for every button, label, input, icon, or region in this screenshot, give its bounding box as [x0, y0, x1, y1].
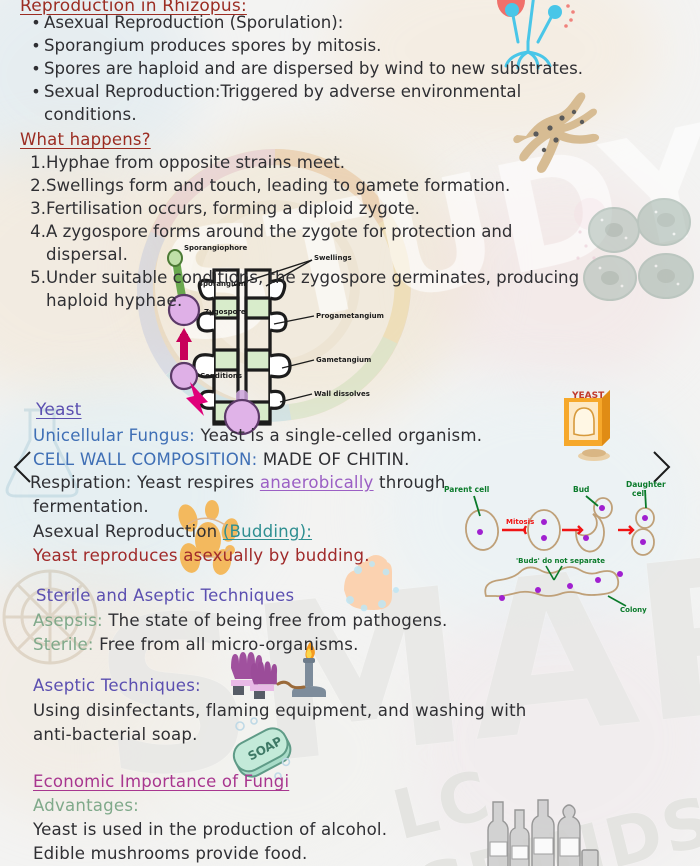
list-number: 5. — [24, 265, 46, 290]
text-advantage-2: Edible mushrooms provide food. — [33, 841, 308, 866]
list-item: 5. Under suitable conditions, the zygosp… — [24, 265, 579, 290]
hyphae-branch-icon — [512, 88, 622, 198]
svg-text:Conditions: Conditions — [200, 372, 242, 380]
heading-economic-importance: Economic Importance of Fungi — [33, 769, 289, 794]
list-number: 2. — [24, 173, 46, 198]
list-text: Fertilisation occurs, forming a diploid … — [46, 196, 420, 221]
bullet-text-cont: conditions. — [44, 102, 137, 127]
chevron-right-icon[interactable] — [650, 450, 672, 484]
aseptic-line-sterile: Sterile: Free from all micro-organisms. — [33, 632, 359, 657]
svg-text:Parent cell: Parent cell — [444, 485, 489, 494]
svg-text:Zygospore: Zygospore — [204, 308, 246, 316]
list-text-cont: dispersal. — [46, 242, 128, 267]
text-anaerobically: anaerobically — [260, 473, 374, 492]
text-aseptic-body-1: Using disinfectants, flaming equipment, … — [33, 698, 527, 723]
svg-text:Gametangium: Gametangium — [316, 356, 371, 364]
text-respiration: Yeast respires — [132, 473, 260, 492]
soap-label: SOAP — [246, 734, 285, 764]
list-number: 4. — [24, 219, 46, 244]
aseptic-line-asepsis: Asepsis: The state of being free from pa… — [33, 608, 447, 633]
heading-sterile-aseptic: Sterile and Aseptic Techniques — [36, 583, 294, 608]
text-sterile: Free from all micro-organisms. — [94, 635, 359, 654]
label-respiration: Respiration: — [30, 473, 132, 492]
heading-what-happens: What happens? — [20, 127, 151, 152]
label-asepsis: Asepsis: — [33, 611, 103, 630]
bullet-dot: • — [28, 33, 44, 58]
text-yeast-budding-summary: Yeast reproduces asexually by budding. — [33, 543, 370, 568]
alcohol-bottles-icon — [472, 786, 602, 866]
text-cell-wall-composition: MADE OF CHITIN. — [257, 450, 409, 469]
list-text: Swellings form and touch, leading to gam… — [46, 173, 510, 198]
bullet-dot: • — [28, 79, 44, 104]
yeast-budding-diagram: Parent cell Bud Daughter cell Mitosis — [440, 482, 670, 562]
svg-text:Sporangiophore: Sporangiophore — [184, 244, 247, 252]
svg-text:Colony: Colony — [620, 606, 647, 614]
text-unicellular-fungus: Yeast is a single-celled organism. — [195, 426, 482, 445]
text-fermentation: fermentation. — [33, 494, 149, 519]
list-text: Under suitable conditions, the zygospore… — [46, 265, 579, 290]
label-sterile: Sterile: — [33, 635, 94, 654]
list-item: • Sexual Reproduction:Triggered by adver… — [28, 79, 521, 104]
label-unicellular-fungus: Unicellular Fungus: — [33, 426, 195, 445]
yeast-box-label: YEAST — [571, 391, 605, 401]
yeast-line-respiration: Respiration: Yeast respires anaerobicall… — [30, 470, 446, 495]
heading-aseptic-techniques: Aseptic Techniques: — [33, 673, 201, 698]
text-respiration-tail: through — [374, 473, 446, 492]
svg-text:cell: cell — [632, 489, 647, 498]
list-text: Hyphae from opposite strains meet. — [46, 150, 345, 175]
watermark-lc-grinds: LC GRINDS — [385, 705, 700, 866]
yeast-colony-diagram: 'Buds' do not separate Colony — [480, 556, 655, 620]
heading-yeast: Yeast — [36, 398, 82, 423]
list-text-cont: haploid hyphae. — [46, 288, 182, 313]
list-number: 3. — [24, 196, 46, 221]
svg-text:Mitosis: Mitosis — [506, 518, 534, 526]
svg-text:Bud: Bud — [573, 485, 589, 494]
bullet-dot: • — [28, 10, 44, 35]
label-cell-wall-composition: CELL WALL COMPOSITION: — [33, 450, 257, 469]
cell-cluster-icon — [570, 188, 700, 298]
list-item: 4. A zygospore forms around the zygote f… — [24, 219, 512, 244]
svg-text:Swellings: Swellings — [314, 254, 352, 262]
text-budding: (Budding): — [223, 522, 312, 541]
list-item: • Spores are haploid and are dispersed b… — [28, 56, 583, 81]
list-text: A zygospore forms around the zygote for … — [46, 219, 512, 244]
yeast-line-asexual-repro: Asexual Reproduction (Budding): — [33, 519, 312, 544]
yeast-box-icon: YEAST — [558, 386, 618, 458]
bullet-text: Sexual Reproduction:Triggered by adverse… — [44, 79, 521, 104]
bullet-text: Asexual Reproduction (Sporulation): — [44, 10, 343, 35]
svg-text:Wall dissolves: Wall dissolves — [314, 390, 370, 398]
label-asexual-reproduction: Asexual Reproduction — [33, 522, 223, 541]
svg-text:'Buds' do not separate: 'Buds' do not separate — [516, 557, 605, 565]
text-aseptic-body-2: anti-bacterial soap. — [33, 722, 198, 747]
list-item: • Asexual Reproduction (Sporulation): — [28, 10, 343, 35]
svg-text:Progametangium: Progametangium — [316, 312, 384, 320]
list-item: 3. Fertilisation occurs, forming a diplo… — [24, 196, 420, 221]
note-page: STUDY SMART LC GRINDS — [0, 0, 700, 866]
subheading-advantages: Advantages: — [33, 793, 139, 818]
text-asepsis: The state of being free from pathogens. — [103, 611, 448, 630]
list-number: 1. — [24, 150, 46, 175]
list-item: 2. Swellings form and touch, leading to … — [24, 173, 510, 198]
bullet-dot: • — [28, 56, 44, 81]
yeast-line-cell-wall: CELL WALL COMPOSITION: MADE OF CHITIN. — [33, 447, 410, 472]
text-advantage-1: Yeast is used in the production of alcoh… — [33, 817, 387, 842]
list-item: 1. Hyphae from opposite strains meet. — [24, 150, 345, 175]
bullet-text: Spores are haploid and are dispersed by … — [44, 56, 583, 81]
list-item: • Sporangium produces spores by mitosis. — [28, 33, 381, 58]
yeast-line-unicellular: Unicellular Fungus: Yeast is a single-ce… — [33, 423, 482, 448]
bullet-text: Sporangium produces spores by mitosis. — [44, 33, 381, 58]
